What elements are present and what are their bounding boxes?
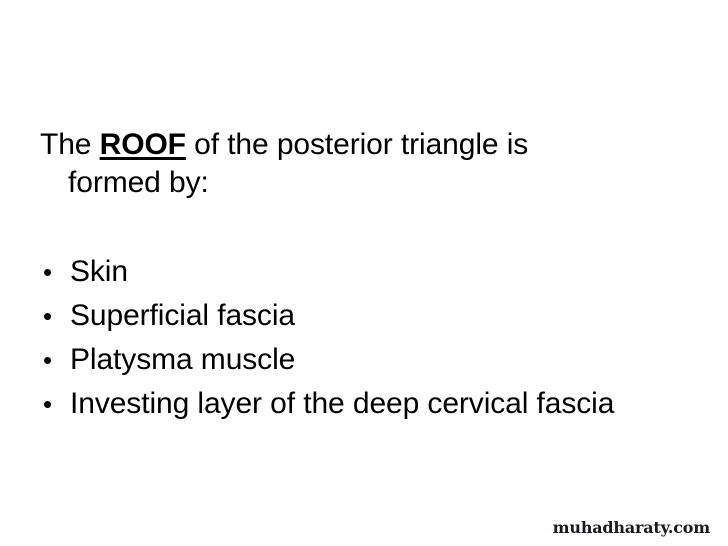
list-item-label: Skin — [70, 255, 128, 288]
heading-emphasis-roof: ROOF — [100, 128, 186, 161]
bullet-dot-icon: • — [43, 294, 57, 338]
list-item: • Platysma muscle — [40, 338, 688, 382]
slide-heading: The ROOF of the posterior triangle is fo… — [40, 126, 628, 202]
heading-text-before: The — [40, 128, 100, 161]
list-item: • Superficial fascia — [40, 294, 688, 338]
roof-layers-list: • Skin • Superficial fascia • Platysma m… — [40, 250, 688, 426]
site-watermark: muhadharaty.com — [553, 518, 710, 538]
bullet-dot-icon: • — [43, 250, 57, 294]
slide-content-block: The ROOF of the posterior triangle is fo… — [40, 126, 688, 426]
list-item: • Skin — [40, 250, 688, 294]
bullet-dot-icon: • — [43, 338, 57, 382]
list-item-label: Platysma muscle — [70, 343, 295, 376]
slide-canvas: The ROOF of the posterior triangle is fo… — [0, 0, 728, 546]
bullet-dot-icon: • — [43, 382, 57, 426]
heading-list-spacer — [40, 202, 688, 250]
list-item-label: Superficial fascia — [70, 299, 295, 332]
list-item-label: Investing layer of the deep cervical fas… — [70, 387, 614, 420]
list-item: • Investing layer of the deep cervical f… — [40, 382, 688, 426]
